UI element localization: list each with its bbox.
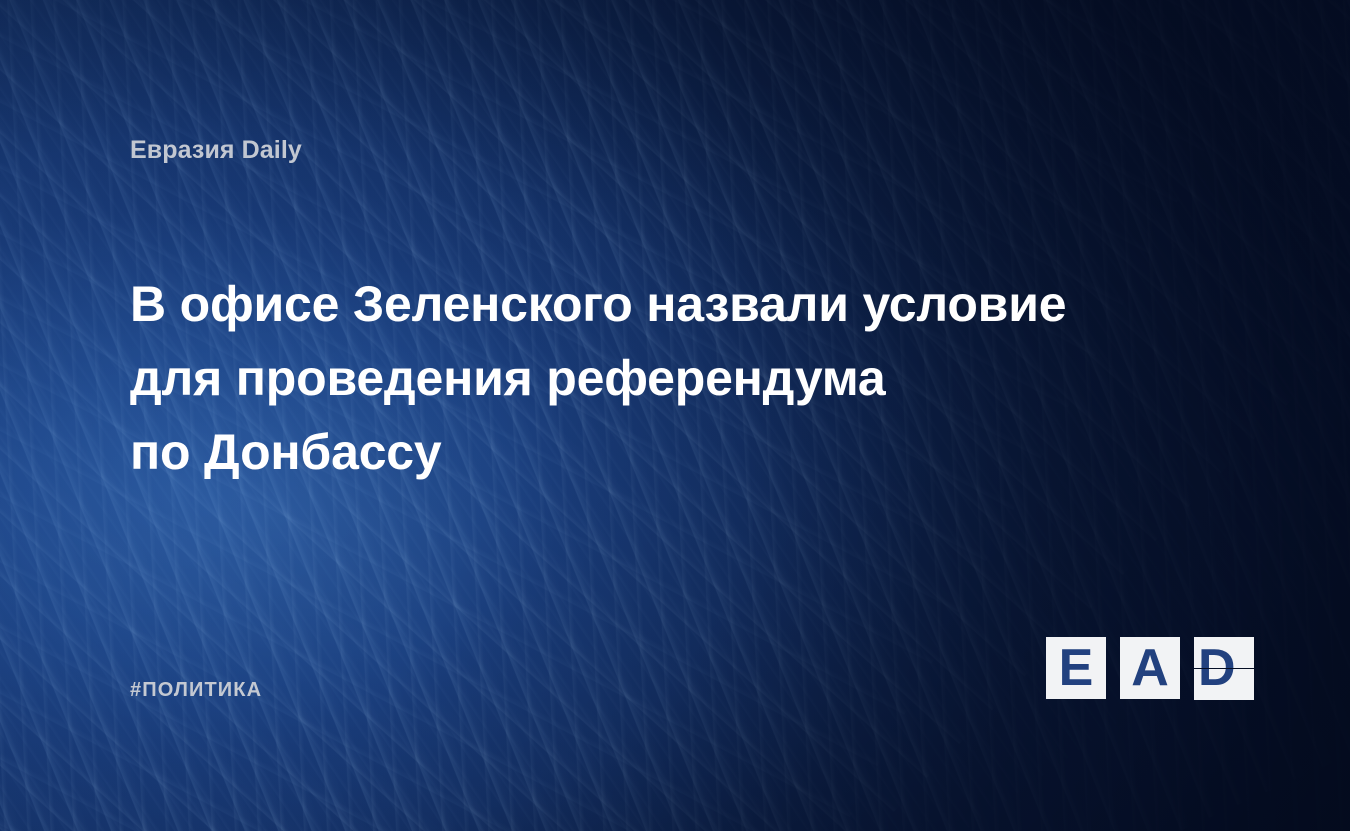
headline-line-1: В офисе Зеленского назвали условие (130, 267, 1180, 341)
category-tag[interactable]: #ПОЛИТИКА (130, 679, 262, 702)
brand-name: Евразия Daily (130, 136, 302, 165)
headline-line-3: по Донбассу (130, 415, 1180, 489)
logo-letter-a: A (1131, 642, 1169, 694)
headline-line-2: для проведения референдума (130, 341, 1180, 415)
eadaily-logo[interactable]: E A D D (1046, 637, 1254, 699)
logo-tile-a: A (1120, 637, 1180, 699)
logo-tile-d-top-half: D (1194, 637, 1254, 668)
logo-tile-e: E (1046, 637, 1106, 699)
logo-letter-d-bottom: D (1198, 669, 1236, 699)
page-title: В офисе Зеленского назвали условие для п… (130, 267, 1180, 489)
card-content: Евразия Daily В офисе Зеленского назвали… (0, 0, 1350, 831)
logo-letter-e: E (1059, 642, 1094, 694)
logo-letter-d-top: D (1198, 637, 1236, 668)
article-share-card: Евразия Daily В офисе Зеленского назвали… (0, 0, 1350, 831)
logo-tile-d: D D (1194, 637, 1254, 699)
logo-tile-d-bottom-half: D (1194, 669, 1254, 700)
